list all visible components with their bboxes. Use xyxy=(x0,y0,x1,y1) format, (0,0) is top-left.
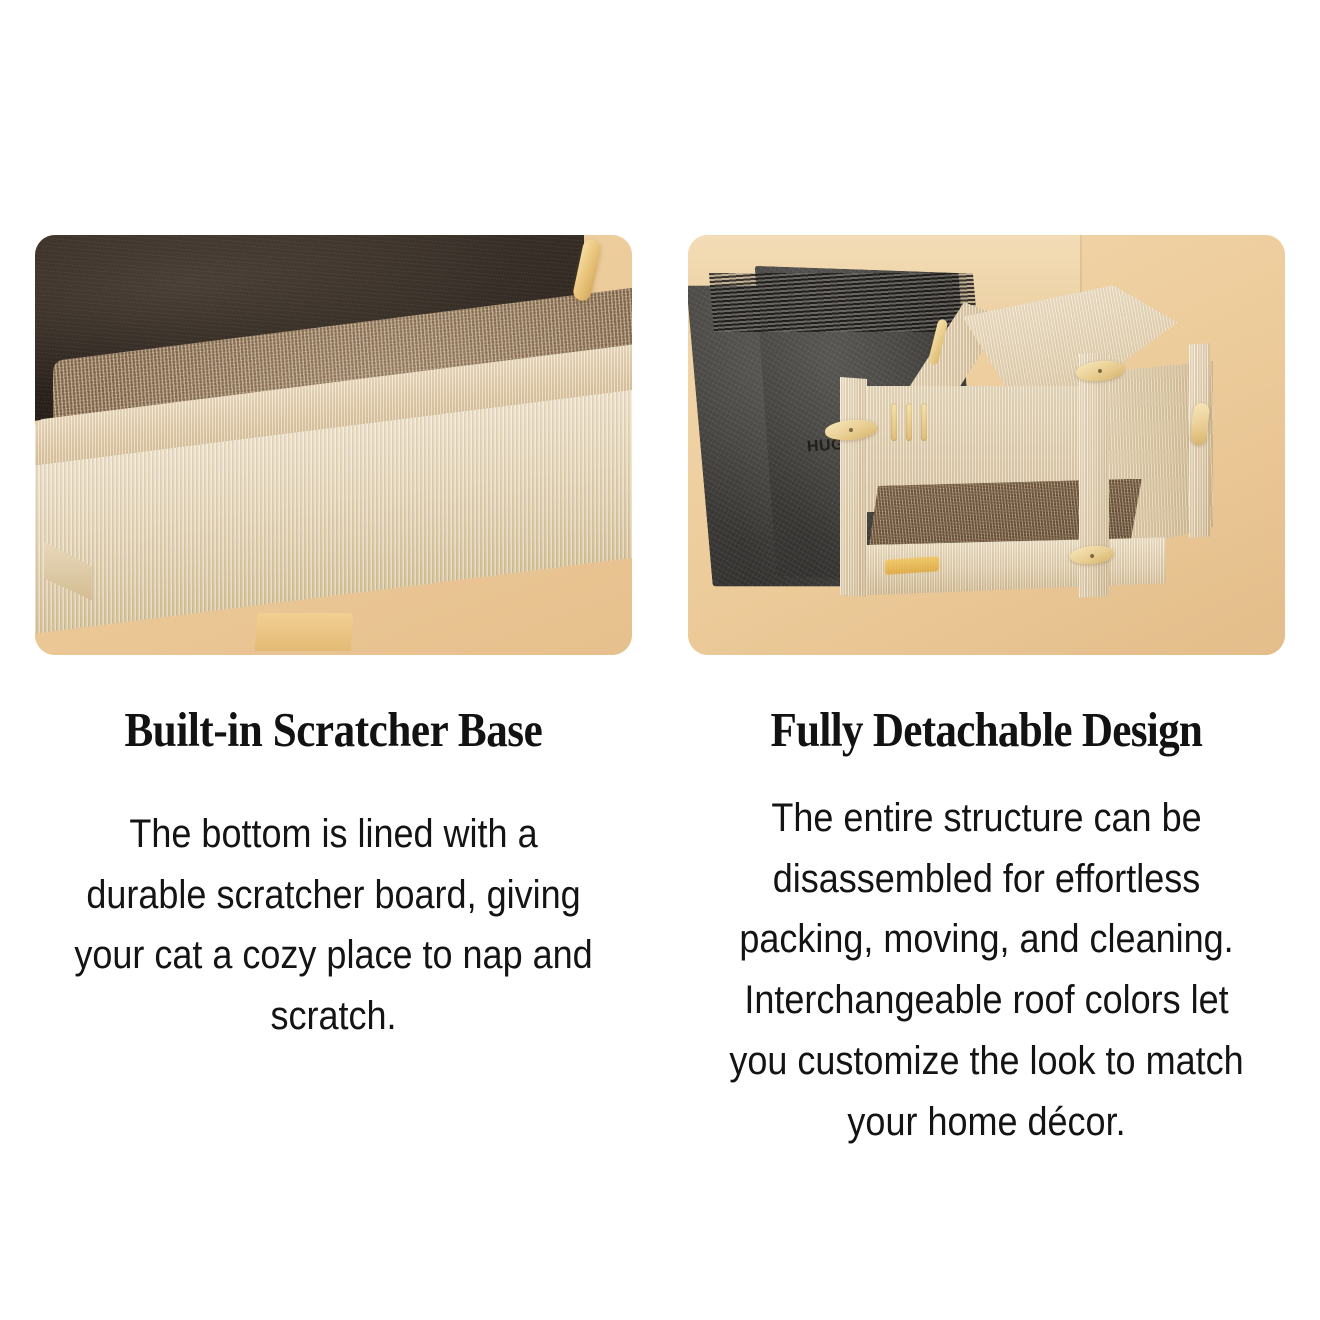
product-image-detachable-design: HUGS xyxy=(688,235,1285,655)
ventilation-slots xyxy=(891,403,927,441)
feature-column-detachable-design: HUGS xyxy=(688,235,1285,1153)
vent-slot xyxy=(921,403,927,441)
feature-body-scratcher-base: The bottom is lined with a durable scrat… xyxy=(65,804,602,1047)
peg-screw-dot xyxy=(849,428,853,432)
wood-tab-joint xyxy=(255,613,353,651)
vent-slot xyxy=(906,403,912,441)
feature-body-detachable-design: The entire structure can be disassembled… xyxy=(718,788,1255,1153)
vent-slot xyxy=(891,403,897,441)
peg-screw-dot xyxy=(1098,369,1102,373)
feature-column-scratcher-base: Built-in Scratcher Base The bottom is li… xyxy=(35,235,632,1153)
peg-screw-dot xyxy=(1090,553,1094,557)
feature-heading-scratcher-base: Built-in Scratcher Base xyxy=(125,703,543,758)
feature-page: Built-in Scratcher Base The bottom is li… xyxy=(0,0,1320,1320)
feature-heading-detachable-design: Fully Detachable Design xyxy=(771,703,1203,758)
feature-columns: Built-in Scratcher Base The bottom is li… xyxy=(0,235,1320,1153)
product-image-scratcher-base xyxy=(35,235,632,655)
corner-post-left xyxy=(840,377,867,597)
